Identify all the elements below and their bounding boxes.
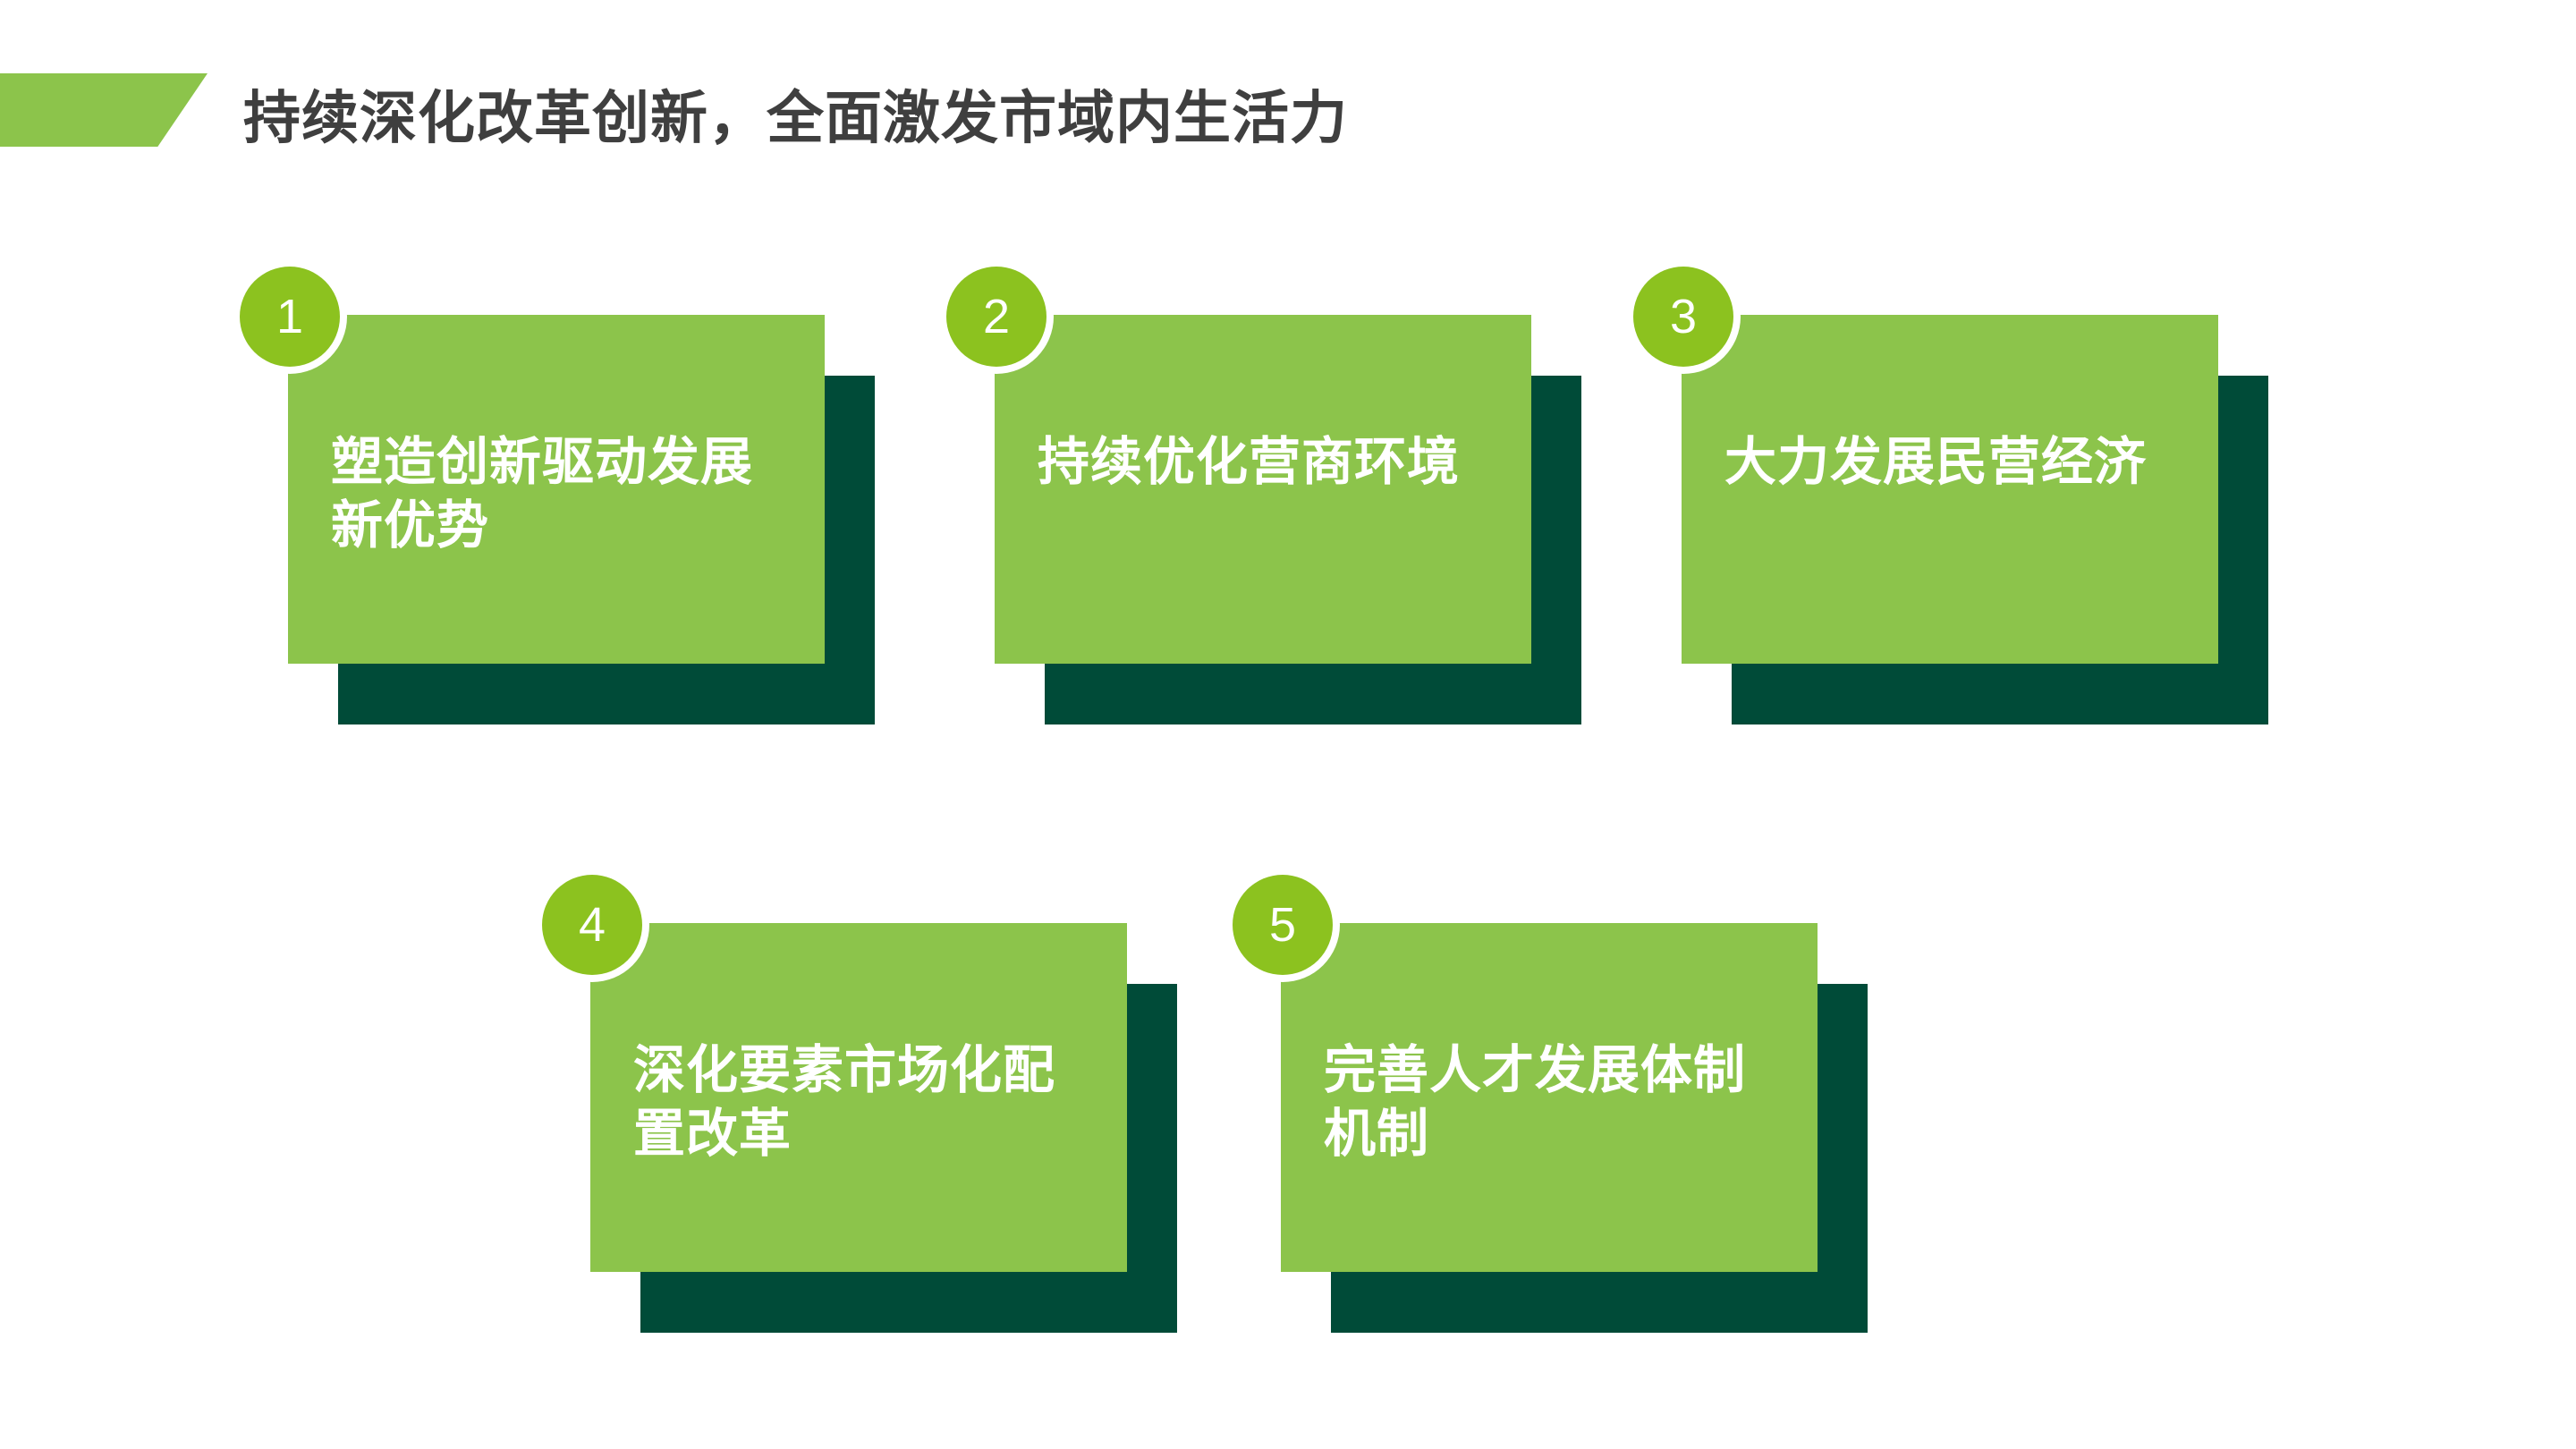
- card-number-badge: 3: [1633, 267, 1733, 367]
- content-card-4[interactable]: 深化要素市场化配置改革 4: [590, 923, 1145, 1281]
- card-body: 塑造创新驱动发展新优势: [288, 315, 825, 664]
- card-body: 大力发展民营经济: [1682, 315, 2218, 664]
- content-card-3[interactable]: 大力发展民营经济 3: [1682, 315, 2236, 673]
- card-label: 塑造创新驱动发展新优势: [331, 431, 789, 558]
- card-label: 完善人才发展体制机制: [1324, 1039, 1782, 1166]
- card-body: 深化要素市场化配置改革: [590, 923, 1127, 1272]
- card-body: 完善人才发展体制机制: [1281, 923, 1818, 1272]
- card-body: 持续优化营商环境: [995, 315, 1531, 664]
- card-label: 持续优化营商环境: [1038, 431, 1496, 495]
- card-number-badge: 4: [542, 875, 642, 975]
- card-number-badge: 2: [946, 267, 1046, 367]
- content-card-5[interactable]: 完善人才发展体制机制 5: [1281, 923, 1835, 1281]
- header: 持续深化改革创新，全面激发市域内生活力: [0, 64, 2576, 163]
- page-title: 持续深化改革创新，全面激发市域内生活力: [243, 64, 1348, 163]
- card-number-badge: 5: [1233, 875, 1333, 975]
- card-number-badge: 1: [240, 267, 340, 367]
- card-label: 深化要素市场化配置改革: [633, 1039, 1091, 1166]
- title-accent-shape: [0, 73, 208, 147]
- content-card-1[interactable]: 塑造创新驱动发展新优势 1: [288, 315, 843, 673]
- card-label: 大力发展民营经济: [1724, 431, 2182, 495]
- content-card-2[interactable]: 持续优化营商环境 2: [995, 315, 1549, 673]
